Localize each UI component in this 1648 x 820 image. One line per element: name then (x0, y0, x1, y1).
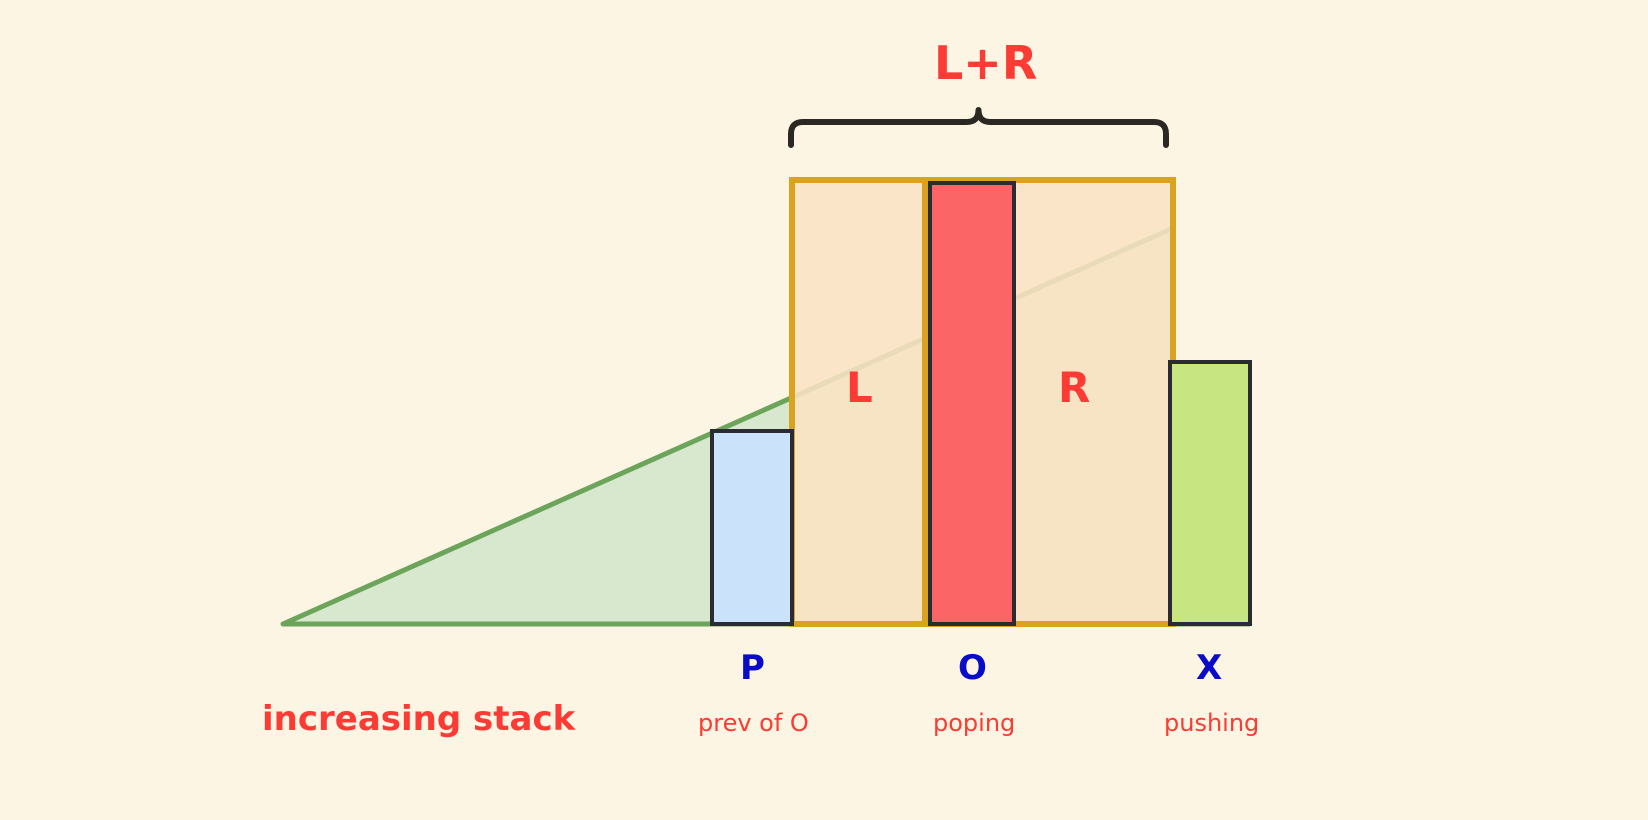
bar-P (712, 431, 792, 624)
diagram-canvas: L+R L R P O X prev of O poping pushing i… (0, 0, 1648, 820)
region-L-rect (792, 180, 925, 624)
stack-diagram-graphic (0, 0, 1648, 820)
region-box-R (1013, 180, 1173, 624)
brace-L-plus-R (791, 110, 1166, 145)
region-box-L (792, 180, 925, 624)
bar-O (930, 183, 1014, 624)
region-R-rect (1013, 180, 1173, 624)
bar-X (1170, 362, 1250, 624)
